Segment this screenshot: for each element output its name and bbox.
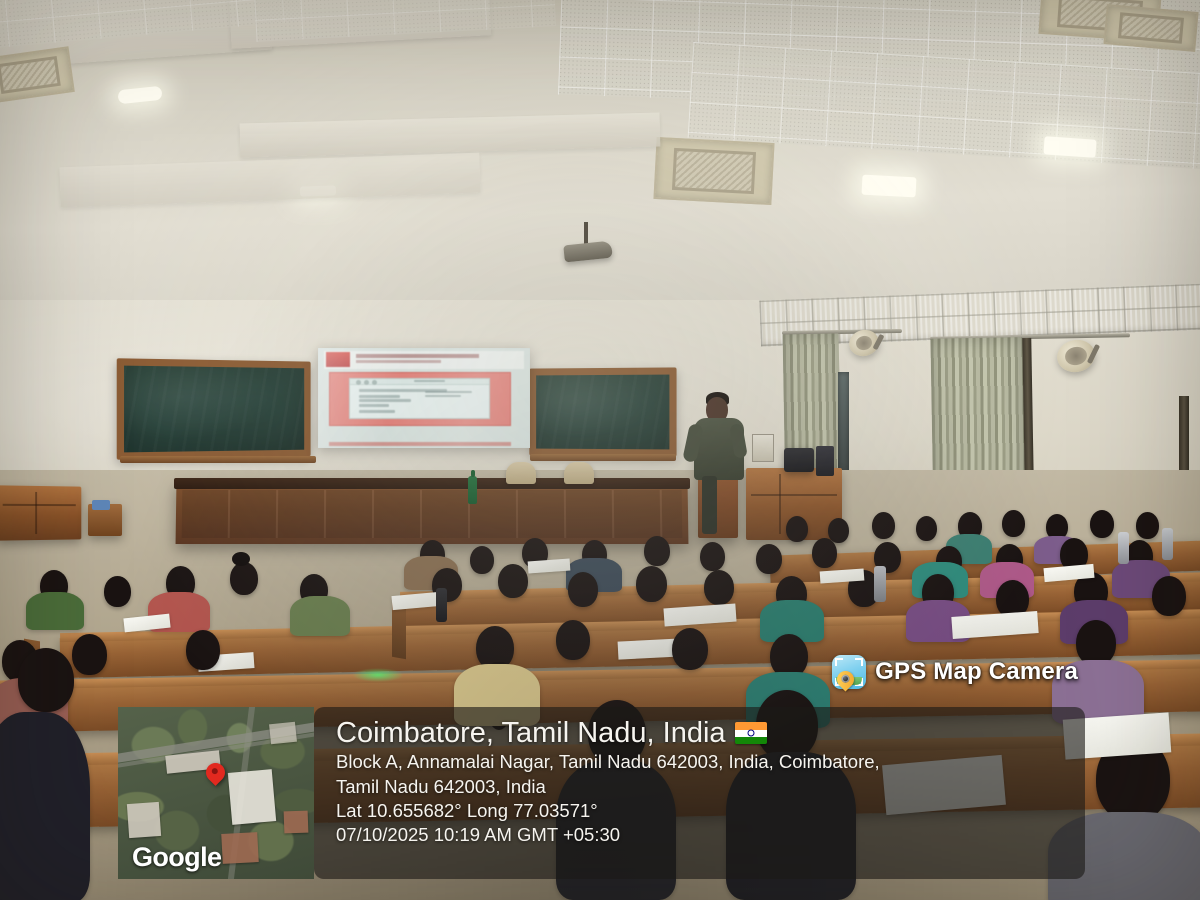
student-head [756,544,782,574]
student-torso [0,712,90,900]
computer-tower [816,446,834,476]
gps-text-block: Coimbatore, Tamil Nadu, India Block A, A… [314,707,1085,879]
slide-footer [329,442,511,447]
student-head [872,512,895,539]
location-title-row: Coimbatore, Tamil Nadu, India [336,717,1085,749]
student-head [72,634,107,675]
water-bottle-front-desk [468,476,477,504]
gps-info-panel: Google Coimbatore, Tamil Nadu, India Blo… [118,707,1085,879]
timestamp: 07/10/2025 10:19 AM GMT +05:30 [336,823,1085,847]
ac-vent-left [0,46,75,104]
address-line-2: Tamil Nadu 642003, India [336,775,1085,799]
student-head [704,570,734,605]
student-head [104,576,131,607]
blackboard-left [117,358,311,459]
gps-map-camera-photo: GPS Map Camera Google Coimbatore, Tamil … [0,0,1200,900]
blackboard-right [529,367,676,456]
student-torso [26,592,84,630]
slide-red-frame [329,372,511,426]
water-bottle [1162,528,1173,560]
student-head [1090,510,1114,538]
student-head [700,542,725,571]
student-head [672,628,708,670]
student-torso [290,596,350,636]
student-head [644,536,670,566]
student-head [828,518,849,543]
slide-logo [326,352,349,367]
water-bottle [1118,532,1129,564]
chalk-ledge-left [120,456,316,463]
student-head [556,620,590,660]
slide-content-window [349,378,490,420]
student-head [916,516,937,541]
student-head [230,562,258,595]
ceiling-light-1 [117,86,162,105]
student-head [186,630,220,670]
google-watermark: Google [132,842,221,873]
wall-cabinet-left [0,485,81,540]
address-line-1: Block A, Annamalai Nagar, Tamil Nadu 642… [336,750,1085,774]
ac-vent-center-right [653,137,774,205]
laser-reflection [352,668,404,682]
water-bottle [436,588,447,622]
location-title: Coimbatore, Tamil Nadu, India [336,717,726,749]
student-head [1136,512,1159,539]
presenter-leg [702,476,717,534]
gps-camera-pin-icon [832,655,866,689]
monitor [784,448,814,472]
student-head [568,572,598,607]
ceiling-light-3 [1043,136,1096,158]
student-hair-bun [232,552,250,566]
front-desk-top [174,478,690,489]
document-holder [752,434,774,462]
chalk-ledge-right [530,454,676,461]
presentation-slide [318,348,530,448]
ceiling [0,0,1200,330]
gps-map-camera-badge: GPS Map Camera [832,655,1078,689]
ceiling-light-2 [862,175,917,198]
front-desk [176,482,689,544]
gps-badge-label: GPS Map Camera [875,658,1078,686]
student-head [786,516,808,542]
student-head [470,546,494,574]
chair-1 [506,462,536,484]
blue-tray [92,500,110,510]
chair-2 [564,462,594,484]
projection-screen [318,348,530,448]
water-bottle [874,566,886,602]
coordinates: Lat 10.655682° Long 77.03571° [336,799,1085,823]
map-thumbnail[interactable]: Google [118,707,314,879]
student-head [1002,510,1025,537]
student-head [498,564,528,598]
ac-vent-far-right [1103,4,1198,52]
window-slit-1 [838,372,849,482]
student-head [636,566,667,602]
projector [563,241,613,263]
india-flag-icon [735,722,767,744]
student-head [812,538,837,568]
student-head [1152,576,1186,616]
student-head [18,648,74,712]
